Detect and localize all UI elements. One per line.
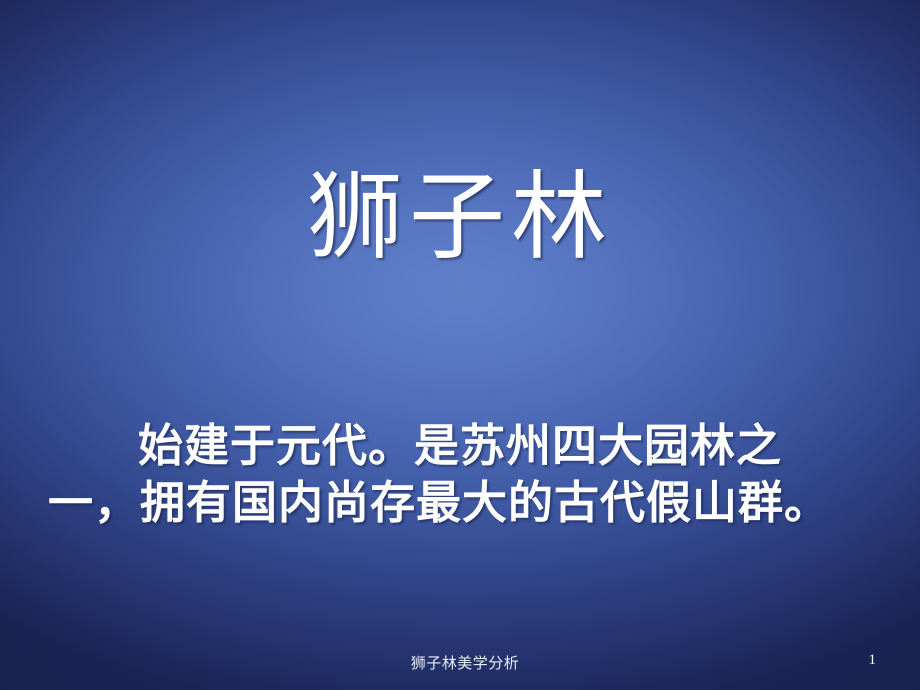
slide-body-block: 始建于元代。是苏州四大园林之一，拥有国内尚存最大的古代假山群。 xyxy=(48,418,848,531)
slide-title: 狮子林 xyxy=(307,168,613,269)
presentation-slide: 狮子林 始建于元代。是苏州四大园林之一，拥有国内尚存最大的古代假山群。 狮子林美… xyxy=(0,0,920,690)
footer-label-wrapper: 狮子林美学分析 xyxy=(0,652,920,673)
slide-title-block: 狮子林 xyxy=(0,168,920,269)
background-vignette xyxy=(0,0,920,690)
slide-body-text: 始建于元代。是苏州四大园林之一，拥有国内尚存最大的古代假山群。 xyxy=(48,418,848,531)
footer-label: 狮子林美学分析 xyxy=(411,652,520,673)
slide-footer: 狮子林美学分析 1 xyxy=(0,644,920,690)
page-number: 1 xyxy=(869,652,877,669)
